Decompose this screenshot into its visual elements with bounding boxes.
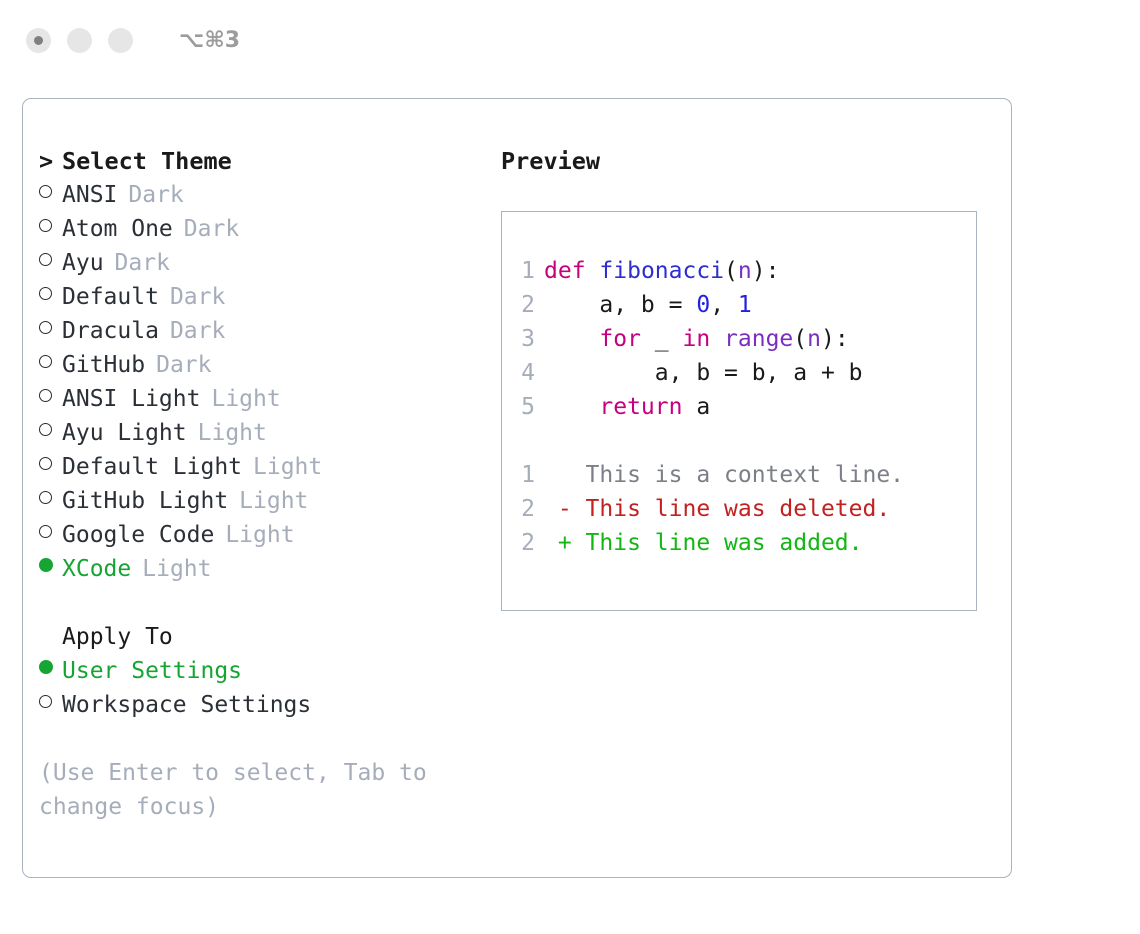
- code-token-plain: a, b = b, a + b: [544, 360, 863, 386]
- preview-title: Preview: [501, 144, 1001, 178]
- code-token-num: 1: [738, 292, 752, 318]
- diff-line-2: 2 + This line was added.: [502, 526, 976, 560]
- code-token-plain: a, b =: [544, 292, 696, 318]
- radio-marker: [39, 688, 62, 722]
- title-bar: ⌥⌘3: [0, 0, 1140, 80]
- radio-unselected-icon: [39, 525, 52, 538]
- window-dot-second-icon[interactable]: [67, 28, 92, 53]
- theme-item-label: GitHub: [62, 348, 145, 382]
- theme-item-label: Atom One: [62, 212, 173, 246]
- keyboard-shortcut-label: ⌥⌘3: [179, 28, 240, 53]
- line-number: 4: [502, 356, 544, 390]
- radio-marker: [39, 246, 62, 280]
- radio-unselected-icon: [39, 491, 52, 504]
- code-token-plain: [710, 326, 724, 352]
- radio-marker: [39, 416, 62, 450]
- theme-item-9[interactable]: GitHub LightLight: [39, 484, 509, 518]
- line-number: 2: [502, 526, 544, 560]
- apply-option-label: User Settings: [62, 654, 242, 688]
- line-number: 2: [502, 492, 544, 526]
- theme-item-8[interactable]: Default LightLight: [39, 450, 509, 484]
- line-number: 1: [502, 254, 544, 288]
- radio-marker: [39, 654, 62, 688]
- code-token-kw: in: [682, 326, 710, 352]
- theme-item-5[interactable]: GitHubDark: [39, 348, 509, 382]
- radio-unselected-icon: [39, 321, 52, 334]
- code-line-1: 2 a, b = 0, 1: [502, 288, 976, 322]
- radio-unselected-icon: [39, 219, 52, 232]
- code-token-num: 0: [696, 292, 710, 318]
- code-token-plain: _: [641, 326, 683, 352]
- theme-item-label: Dracula: [62, 314, 159, 348]
- radio-unselected-icon: [39, 423, 52, 436]
- theme-list: ANSIDarkAtom OneDarkAyuDarkDefaultDarkDr…: [39, 178, 509, 586]
- code-token-plain: (: [793, 326, 807, 352]
- theme-item-tag: Dark: [128, 178, 183, 212]
- theme-item-tag: Light: [211, 382, 280, 416]
- theme-item-0[interactable]: ANSIDark: [39, 178, 509, 212]
- diff-line-1: 2 - This line was deleted.: [502, 492, 976, 526]
- radio-selected-icon: [39, 660, 53, 674]
- line-number: 1: [502, 458, 544, 492]
- radio-marker: [39, 314, 62, 348]
- radio-marker: [39, 484, 62, 518]
- code-line-0: 1def fibonacci(n):: [502, 254, 976, 288]
- theme-item-6[interactable]: ANSI LightLight: [39, 382, 509, 416]
- radio-marker: [39, 518, 62, 552]
- code-token-var: n: [738, 258, 752, 284]
- apply-option-0[interactable]: User Settings: [39, 654, 509, 688]
- code-token-plain: (: [724, 258, 738, 284]
- select-theme-header: > Select Theme: [39, 144, 509, 178]
- window-dot-active-icon[interactable]: [26, 28, 51, 53]
- code-token-kw: for: [599, 326, 641, 352]
- radio-marker: [39, 450, 62, 484]
- preview-pane: Preview 1def fibonacci(n):2 a, b = 0, 13…: [501, 144, 1001, 611]
- radio-unselected-icon: [39, 287, 52, 300]
- code-token-plain: [544, 394, 599, 420]
- line-number: 5: [502, 390, 544, 424]
- theme-item-label: XCode: [62, 552, 131, 586]
- theme-item-7[interactable]: Ayu LightLight: [39, 416, 509, 450]
- theme-item-tag: Light: [253, 450, 322, 484]
- caret-icon: >: [39, 144, 62, 178]
- code-token-plain: a: [682, 394, 710, 420]
- apply-to-title: Apply To: [62, 620, 173, 654]
- radio-unselected-icon: [39, 253, 52, 266]
- apply-option-label: Workspace Settings: [62, 688, 311, 722]
- code-sample: 1def fibonacci(n):2 a, b = 0, 13 for _ i…: [502, 254, 976, 560]
- radio-marker: [39, 212, 62, 246]
- radio-marker: [39, 280, 62, 314]
- theme-item-label: Google Code: [62, 518, 214, 552]
- diff-line-0: 1 This is a context line.: [502, 458, 976, 492]
- code-token-del: - This line was deleted.: [544, 496, 890, 522]
- code-line-3: 4 a, b = b, a + b: [502, 356, 976, 390]
- code-token-call: range: [724, 326, 793, 352]
- radio-unselected-icon: [39, 457, 52, 470]
- radio-selected-icon: [39, 558, 53, 572]
- theme-item-label: Ayu: [62, 246, 104, 280]
- theme-item-10[interactable]: Google CodeLight: [39, 518, 509, 552]
- radio-marker: [39, 178, 62, 212]
- code-token-plain: ,: [710, 292, 738, 318]
- main-panel: > Select Theme ANSIDarkAtom OneDarkAyuDa…: [22, 98, 1012, 878]
- keyboard-hint: (Use Enter to select, Tab to change focu…: [39, 756, 469, 824]
- list-gap: [39, 586, 509, 620]
- theme-selector: > Select Theme ANSIDarkAtom OneDarkAyuDa…: [39, 144, 509, 824]
- radio-marker: [39, 382, 62, 416]
- apply-to-header: Apply To: [39, 620, 509, 654]
- line-number: 2: [502, 288, 544, 322]
- code-token-plain: [586, 258, 600, 284]
- radio-unselected-icon: [39, 389, 52, 402]
- preview-box: 1def fibonacci(n):2 a, b = 0, 13 for _ i…: [501, 211, 977, 611]
- theme-item-3[interactable]: DefaultDark: [39, 280, 509, 314]
- app-window: ⌥⌘3 > Select Theme ANSIDarkAtom OneDarkA…: [0, 0, 1140, 934]
- theme-item-label: Default: [62, 280, 159, 314]
- code-line-4: 5 return a: [502, 390, 976, 424]
- theme-item-tag: Dark: [156, 348, 211, 382]
- line-number: 3: [502, 322, 544, 356]
- hint-gap: [39, 722, 509, 756]
- theme-item-tag: Dark: [115, 246, 170, 280]
- select-theme-title: Select Theme: [62, 144, 232, 178]
- theme-item-label: GitHub Light: [62, 484, 228, 518]
- code-line-2: 3 for _ in range(n):: [502, 322, 976, 356]
- radio-unselected-icon: [39, 695, 52, 708]
- theme-item-4[interactable]: DraculaDark: [39, 314, 509, 348]
- code-token-plain: [544, 326, 599, 352]
- theme-item-tag: Dark: [170, 314, 225, 348]
- code-token-kw: return: [599, 394, 682, 420]
- radio-marker: [39, 552, 62, 586]
- theme-item-1[interactable]: Atom OneDark: [39, 212, 509, 246]
- window-dot-third-icon[interactable]: [108, 28, 133, 53]
- code-token-plain: ):: [752, 258, 780, 284]
- code-token-var: n: [807, 326, 821, 352]
- theme-item-tag: Light: [198, 416, 267, 450]
- theme-item-label: Default Light: [62, 450, 242, 484]
- code-token-ctx: This is a context line.: [544, 462, 904, 488]
- window-controls: [26, 28, 133, 53]
- apply-option-1[interactable]: Workspace Settings: [39, 688, 509, 722]
- code-diff-gap: [502, 424, 976, 458]
- code-token-fn: fibonacci: [599, 258, 724, 284]
- theme-item-2[interactable]: AyuDark: [39, 246, 509, 280]
- window-dot-inner: [34, 36, 43, 45]
- code-token-plain: ):: [821, 326, 849, 352]
- theme-item-11[interactable]: XCodeLight: [39, 552, 509, 586]
- theme-item-tag: Light: [239, 484, 308, 518]
- theme-item-label: Ayu Light: [62, 416, 187, 450]
- theme-item-tag: Dark: [170, 280, 225, 314]
- code-token-kw: def: [544, 258, 586, 284]
- theme-item-label: ANSI Light: [62, 382, 200, 416]
- radio-unselected-icon: [39, 355, 52, 368]
- apply-to-marker-placeholder: [39, 620, 62, 654]
- radio-marker: [39, 348, 62, 382]
- theme-item-label: ANSI: [62, 178, 117, 212]
- radio-unselected-icon: [39, 185, 52, 198]
- theme-item-tag: Light: [225, 518, 294, 552]
- code-token-add: + This line was added.: [544, 530, 863, 556]
- apply-to-list: User SettingsWorkspace Settings: [39, 654, 509, 722]
- theme-item-tag: Light: [142, 552, 211, 586]
- theme-item-tag: Dark: [184, 212, 239, 246]
